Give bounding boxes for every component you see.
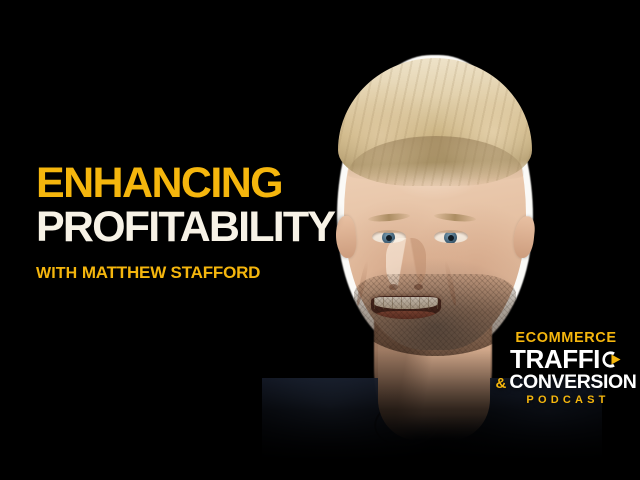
episode-title-block: ENHANCING PROFITABILITY WITH MATTHEW STA… [36, 163, 386, 283]
logo-conversion-text: CONVERSION [509, 373, 636, 393]
episode-guest-line: WITH MATTHEW STAFFORD [36, 263, 386, 283]
logo-traffic-row: TRAFFI [502, 347, 630, 372]
traffic-c-play-mark-icon [599, 348, 622, 371]
episode-title-line-2: PROFITABILITY [36, 206, 386, 250]
episode-title-line-1: ENHANCING [36, 163, 386, 204]
podcast-logo: ECOMMERCE TRAFFI & CONVERSION PODCAST [502, 331, 630, 406]
logo-conversion-row: & CONVERSION [502, 373, 630, 393]
logo-traffic-text: TRAFFI [510, 346, 600, 372]
eye-right [434, 230, 468, 243]
beard-stubble [354, 274, 516, 356]
podcast-thumbnail-canvas: ENHANCING PROFITABILITY WITH MATTHEW STA… [0, 0, 640, 480]
logo-ampersand: & [496, 376, 507, 391]
guest-name: MATTHEW STAFFORD [82, 263, 260, 282]
logo-podcast-text: PODCAST [502, 395, 630, 406]
guest-prefix-label: WITH [36, 265, 82, 282]
eyelid-right [434, 230, 468, 233]
